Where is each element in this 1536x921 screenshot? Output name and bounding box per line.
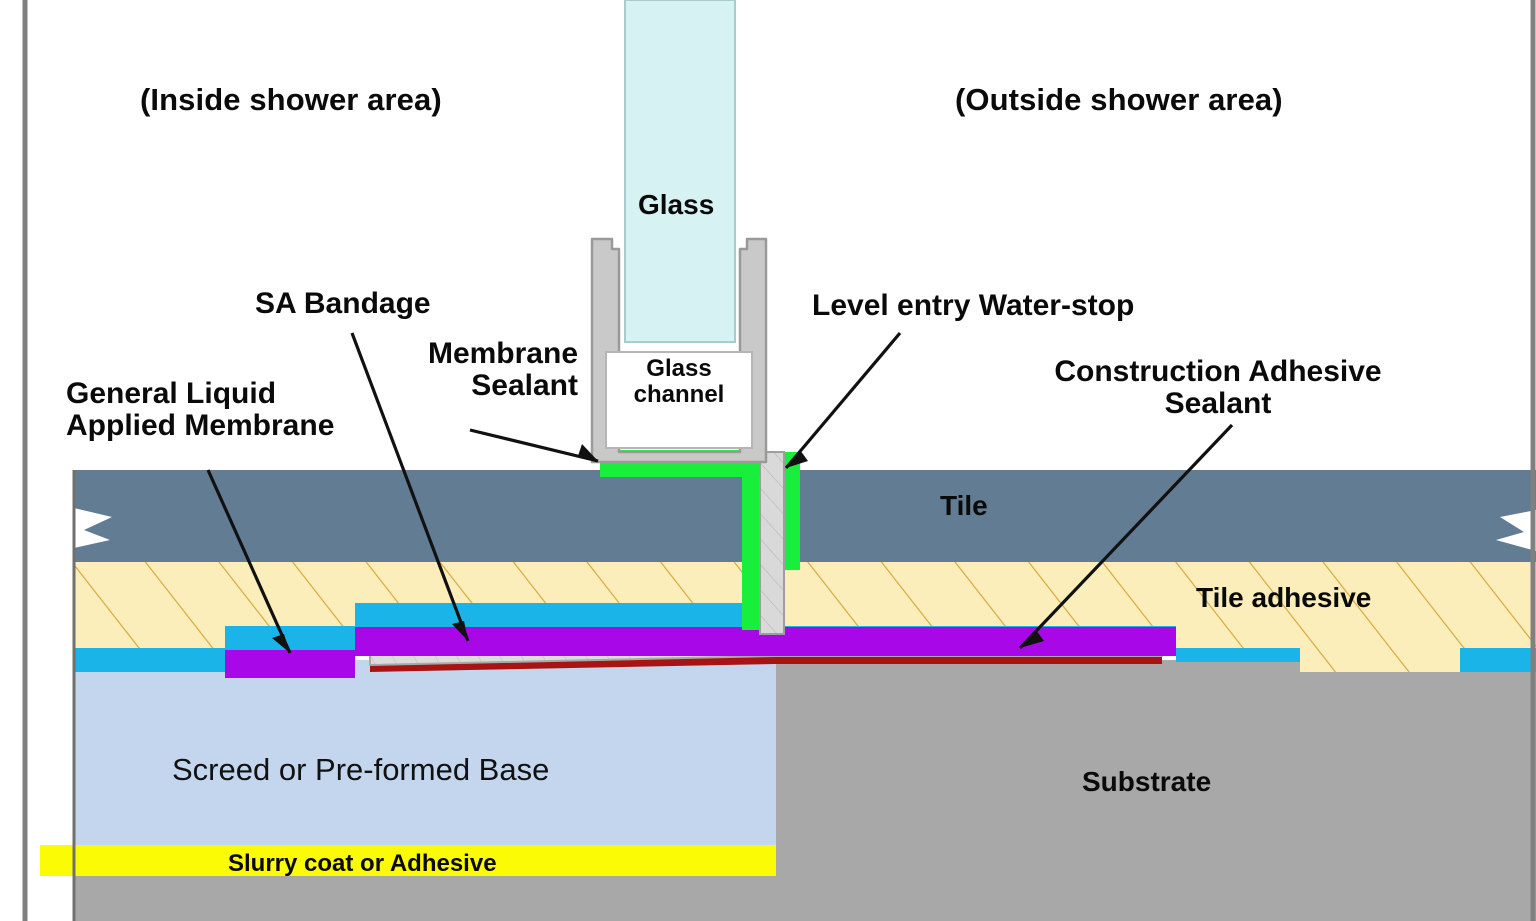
label-tile-adhesive: Tile adhesive	[1196, 583, 1371, 613]
label-glass-channel: Glass channel	[606, 356, 752, 408]
diagram-canvas: (Inside shower area) (Outside shower are…	[0, 0, 1536, 921]
label-outside-shower-area: (Outside shower area)	[955, 83, 1355, 116]
tile-layer	[74, 470, 1536, 562]
label-general-liquid-applied-membrane: General Liquid Applied Membrane	[66, 378, 334, 443]
label-membrane-sealant: Membrane Sealant	[378, 338, 578, 403]
waterstop-sealant-left	[742, 452, 760, 630]
label-substrate: Substrate	[1082, 767, 1211, 797]
liquid-membrane-right-edge	[1460, 648, 1536, 672]
waterstop-vertical-fin	[760, 452, 784, 634]
glass-panel	[625, 0, 735, 342]
label-level-entry-waterstop: Level entry Water-stop	[812, 290, 1134, 322]
label-glass: Glass	[638, 190, 714, 220]
label-screed-or-preformed-base: Screed or Pre-formed Base	[172, 753, 549, 786]
label-tile: Tile	[940, 491, 988, 521]
label-sa-bandage: SA Bandage	[255, 288, 431, 320]
label-inside-shower-area: (Inside shower area)	[140, 83, 500, 116]
label-slurry-coat-or-adhesive: Slurry coat or Adhesive	[228, 851, 497, 877]
label-construction-adhesive-sealant: Construction Adhesive Sealant	[1018, 356, 1418, 421]
